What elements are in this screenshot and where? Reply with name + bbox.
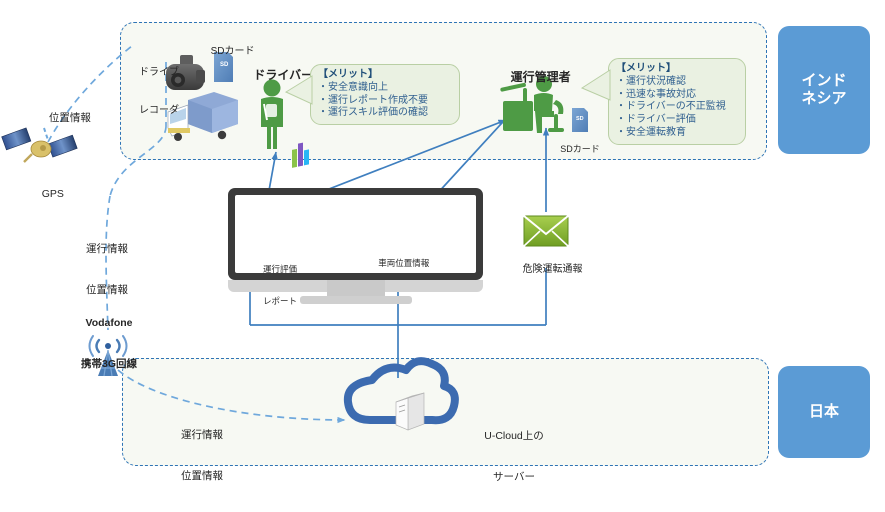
server-icon: [396, 393, 424, 430]
manager-merits-heading: 【メリット】: [616, 63, 738, 76]
driver-merits-heading: 【メリット】: [318, 69, 452, 82]
driver-label: ドライバー: [240, 55, 306, 96]
alert-mail-label: 危険運転通報: [506, 252, 588, 287]
manager-merit-item: ・ドライバー評価: [616, 114, 738, 127]
manager-merit-item: ・運行状況確認: [616, 76, 738, 89]
sd-card-manager-icon: SD: [572, 108, 588, 132]
country-chip-indonesia: インド ネシア: [778, 26, 870, 154]
manager-merit-item: ・迅速な事故対応: [616, 89, 738, 102]
driver-merit-item: ・運行レポート作成不要: [318, 95, 452, 108]
diagram-canvas: SD SD: [0, 0, 885, 477]
gps-edge-label: 位置情報: [26, 100, 102, 136]
manager-merit-item: ・ドライバーの不正監視: [616, 101, 738, 114]
country-chip-japan: 日本: [778, 366, 870, 458]
to-cloud-label: 運行情報 位置情報: [163, 402, 241, 511]
manager-merits-list: ・運行状況確認 ・迅速な事故対応 ・ドライバーの不正監視 ・ドライバー評価 ・安…: [616, 76, 738, 140]
driver-merit-item: ・安全意識向上: [318, 82, 452, 95]
driver-merit-item: ・運行スキル評価の確認: [318, 107, 452, 120]
svg-text:SD: SD: [576, 116, 584, 122]
drive-recorder-label: ドライブ レコーダ: [128, 42, 190, 142]
sd-card-manager-label: SDカード: [544, 134, 606, 165]
vehicle-position-label: 車両位置情報: [359, 249, 439, 278]
cloud-server-label: U-Cloud上の サーバー: [468, 403, 560, 512]
gps-label: GPS: [12, 176, 82, 212]
manager-merit-item: ・安全運転教育: [616, 127, 738, 140]
manager-merits-callout: 【メリット】 ・運行状況確認 ・迅速な事故対応 ・ドライバーの不正監視 ・ドライ…: [608, 58, 746, 145]
alert-mail-icon: [524, 216, 568, 246]
report-label: 運行評価 レポート: [240, 243, 320, 328]
driver-merits-list: ・安全意識向上 ・運行レポート作成不要 ・運行スキル評価の確認: [318, 82, 452, 120]
driver-merits-callout: 【メリット】 ・安全意識向上 ・運行レポート作成不要 ・運行スキル評価の確認: [310, 64, 460, 125]
vodafone-label: Vodafone 携帯3G回線: [62, 290, 156, 399]
manager-label: 運行管理者: [492, 57, 576, 98]
